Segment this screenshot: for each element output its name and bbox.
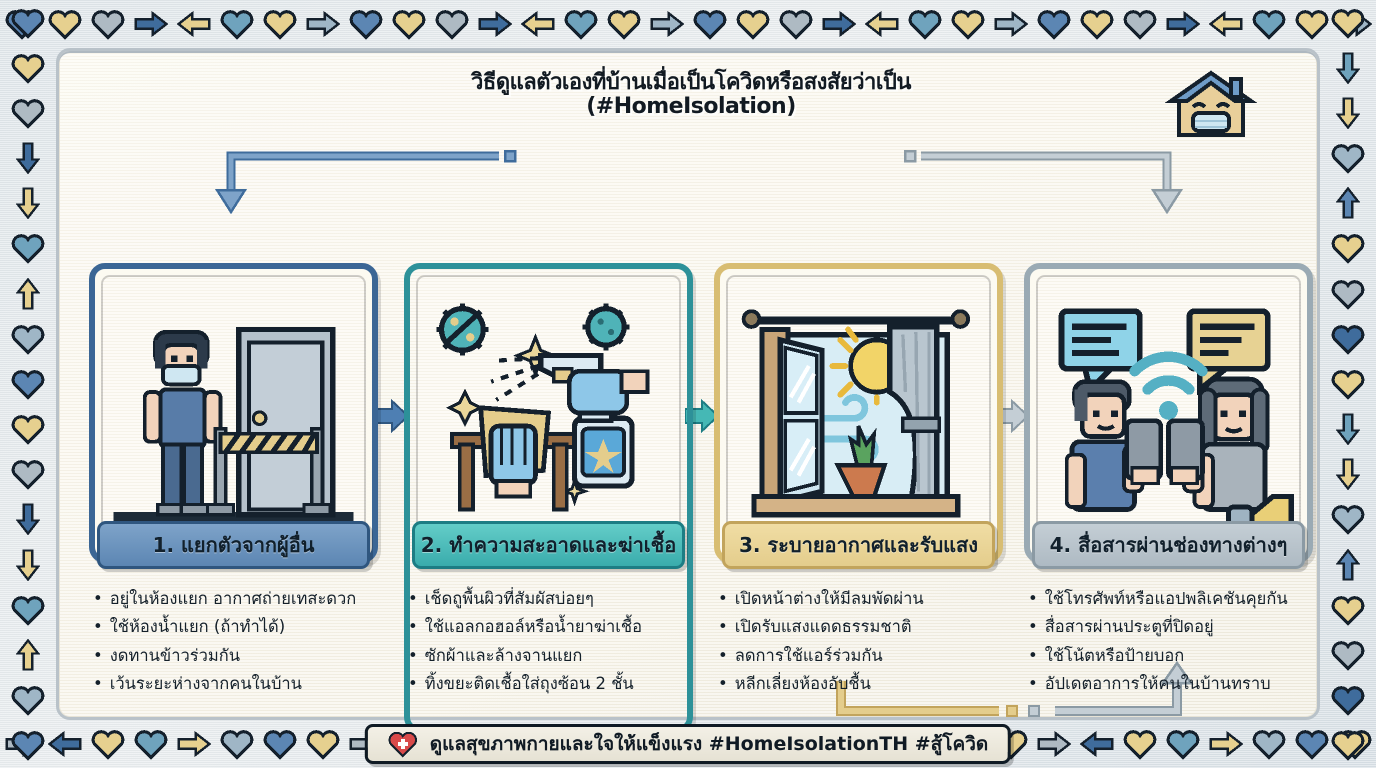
arrow-down-icon xyxy=(11,142,45,174)
card-label: 2. ทำความสะอาดและฆ่าเชื้อ xyxy=(412,521,685,569)
step-card-clean[interactable]: 2. ทำความสะอาดและฆ่าเชื้อ เช็ดถูพื้นผิวท… xyxy=(404,263,693,733)
heart-icon xyxy=(11,52,45,84)
heart-icon xyxy=(1252,8,1286,40)
two-people-phones-wifi-icon xyxy=(1038,277,1299,549)
footer-text: ดูแลสุขภาพกายและใจให้แข็งแรง #HomeIsolat… xyxy=(430,729,988,759)
arrow-right-icon xyxy=(177,728,211,760)
arrow-right-icon xyxy=(650,8,684,40)
card-frame xyxy=(1024,263,1313,563)
list-item: ใช้แอลกอฮอล์หรือน้ำยาฆ่าเชื้อ xyxy=(408,613,689,641)
card-label: 4. สื่อสารผ่านช่องทางต่างๆ xyxy=(1032,521,1305,569)
heart-icon xyxy=(11,7,45,39)
card-bullet-list: เปิดหน้าต่างให้มีลมพัดผ่าน เปิดรับแสงแดด… xyxy=(718,585,999,699)
heart-icon xyxy=(1037,8,1071,40)
heart-icon xyxy=(263,728,297,760)
step-card-communicate[interactable]: 4. สื่อสารผ่านช่องทางต่างๆ ใช้โทรศัพท์หร… xyxy=(1024,263,1313,733)
list-item: ลดการใช้แอร์ร่วมกัน xyxy=(718,642,999,670)
list-item: ใช้โทรศัพท์หรือแอปพลิเคชันคุยกัน xyxy=(1028,585,1309,613)
heart-icon xyxy=(1166,728,1200,760)
arrow-down-icon xyxy=(11,187,45,219)
heart-icon xyxy=(11,729,45,761)
list-item: อัปเดตอาการให้คนในบ้านทราบ xyxy=(1028,670,1309,698)
arrow-up-icon xyxy=(1331,549,1365,581)
arrow-down-icon xyxy=(11,503,45,535)
heart-icon xyxy=(1331,278,1365,310)
list-item: สื่อสารผ่านประตูที่ปิดอยู่ xyxy=(1028,613,1309,641)
arrow-down-icon xyxy=(1331,52,1365,84)
footer-banner: ดูแลสุขภาพกายและใจให้แข็งแรง #HomeIsolat… xyxy=(365,724,1011,764)
card-frame xyxy=(714,263,1003,563)
heart-icon xyxy=(306,728,340,760)
heart-icon xyxy=(607,8,641,40)
infographic-canvas: วิธีดูแลตัวเองที่บ้านเมื่อเป็นโควิดหรือส… xyxy=(0,0,1376,768)
list-item: ทิ้งขยะติดเชื้อใส่ถุงซ้อน 2 ชั้น xyxy=(408,670,689,698)
heart-icon xyxy=(435,8,469,40)
card-illustration-area xyxy=(101,275,366,551)
list-item: เว้นระยะห่างจากคนในบ้าน xyxy=(93,670,374,698)
arrow-right-icon xyxy=(134,8,168,40)
heart-icon xyxy=(1331,639,1365,671)
card-bullet-list: เช็ดถูพื้นผิวที่สัมผัสบ่อยๆ ใช้แอลกอฮอล์… xyxy=(408,585,689,699)
heart-icon xyxy=(11,97,45,129)
heart-icon xyxy=(1331,7,1365,39)
heart-icon xyxy=(1331,594,1365,626)
list-item: เปิดรับแสงแดดธรรมชาติ xyxy=(718,613,999,641)
arrow-left-icon xyxy=(1080,728,1114,760)
title-line-1: วิธีดูแลตัวเองที่บ้านเมื่อเป็นโควิดหรือส… xyxy=(59,71,1323,95)
border-decor-left xyxy=(0,0,56,768)
border-decor-right xyxy=(1320,0,1376,768)
arrow-right-icon xyxy=(1209,728,1243,760)
card-frame xyxy=(89,263,378,563)
heart-icon xyxy=(392,8,426,40)
list-item: ซักผ้าและล้างจานแยก xyxy=(408,642,689,670)
heart-icon xyxy=(693,8,727,40)
arrow-down-icon xyxy=(11,549,45,581)
list-item: งดทานข้าวร่วมกัน xyxy=(93,642,374,670)
heart-icon xyxy=(11,594,45,626)
list-item: ใช้ห้องน้ำแยก (ถ้าทำได้) xyxy=(93,613,374,641)
step-card-isolate[interactable]: 1. แยกตัวจากผู้อื่น อยู่ในห้องแยก อากาศถ… xyxy=(89,263,378,733)
card-label: 1. แยกตัวจากผู้อื่น xyxy=(97,521,370,569)
heart-icon xyxy=(134,728,168,760)
heart-icon xyxy=(11,458,45,490)
arrow-right-icon xyxy=(1166,8,1200,40)
card-label: 3. ระบายอากาศและรับแสง xyxy=(722,521,995,569)
arrow-up-icon xyxy=(1331,187,1365,219)
heart-icon xyxy=(1252,728,1286,760)
arrow-up-icon xyxy=(11,639,45,671)
steps-container: 1. แยกตัวจากผู้อื่น อยู่ในห้องแยก อากาศถ… xyxy=(59,211,1323,711)
heart-icon xyxy=(1331,729,1365,761)
heart-icon xyxy=(908,8,942,40)
heart-cross-icon xyxy=(388,730,418,758)
arrow-right-icon xyxy=(1037,728,1071,760)
heart-icon xyxy=(1331,142,1365,174)
heart-icon xyxy=(11,232,45,264)
arrow-up-icon xyxy=(11,278,45,310)
heart-icon xyxy=(11,323,45,355)
masked-person-closed-door-icon xyxy=(103,277,364,549)
card-bullet-list: ใช้โทรศัพท์หรือแอปพลิเคชันคุยกัน สื่อสาร… xyxy=(1028,585,1309,699)
border-decor-top xyxy=(0,0,1376,48)
heart-icon xyxy=(736,8,770,40)
heart-icon xyxy=(1080,8,1114,40)
heart-icon xyxy=(220,8,254,40)
card-illustration-area xyxy=(416,275,681,551)
heart-icon xyxy=(951,8,985,40)
arrow-down-icon xyxy=(1331,413,1365,445)
heart-icon xyxy=(779,8,813,40)
heart-icon xyxy=(1331,232,1365,264)
page-title: วิธีดูแลตัวเองที่บ้านเมื่อเป็นโควิดหรือส… xyxy=(59,71,1323,119)
list-item: อยู่ในห้องแยก อากาศถ่ายเทสะดวก xyxy=(93,585,374,613)
arrow-right-icon xyxy=(478,8,512,40)
heart-icon xyxy=(263,8,297,40)
heart-icon xyxy=(1123,728,1157,760)
list-item: หลีกเลี่ยงห้องอับชื้น xyxy=(718,670,999,698)
arrow-left-icon xyxy=(521,8,555,40)
heart-icon xyxy=(1123,8,1157,40)
heart-icon xyxy=(11,413,45,445)
arrow-right-icon xyxy=(822,8,856,40)
heart-icon xyxy=(11,368,45,400)
main-panel: วิธีดูแลตัวเองที่บ้านเมื่อเป็นโควิดหรือส… xyxy=(56,48,1320,720)
arrow-left-icon xyxy=(865,8,899,40)
arrow-down-icon xyxy=(1331,458,1365,490)
card-bullet-list: อยู่ในห้องแยก อากาศถ่ายเทสะดวก ใช้ห้องน้… xyxy=(93,585,374,699)
heart-icon xyxy=(91,8,125,40)
arrow-down-icon xyxy=(1331,97,1365,129)
heart-icon xyxy=(220,728,254,760)
heart-icon xyxy=(1331,323,1365,355)
open-window-sun-breeze-icon xyxy=(728,277,989,549)
step-card-ventilate[interactable]: 3. ระบายอากาศและรับแสง เปิดหน้าต่างให้มี… xyxy=(714,263,1003,733)
heart-icon xyxy=(1331,368,1365,400)
list-item: ใช้โน้ตหรือป้ายบอก xyxy=(1028,642,1309,670)
heart-icon xyxy=(91,728,125,760)
heart-icon xyxy=(1331,503,1365,535)
heart-icon xyxy=(564,8,598,40)
arrow-left-icon xyxy=(177,8,211,40)
heart-icon xyxy=(1331,684,1365,716)
arrow-right-icon xyxy=(306,8,340,40)
list-item: เช็ดถูพื้นผิวที่สัมผัสบ่อยๆ xyxy=(408,585,689,613)
spray-bottle-gloved-hand-icon xyxy=(418,277,679,549)
masked-house-icon xyxy=(1163,69,1259,141)
title-line-2: (#HomeIsolation) xyxy=(59,95,1323,119)
list-item: เปิดหน้าต่างให้มีลมพัดผ่าน xyxy=(718,585,999,613)
arrow-left-icon xyxy=(1209,8,1243,40)
heart-icon xyxy=(349,8,383,40)
card-illustration-area xyxy=(726,275,991,551)
heart-icon xyxy=(11,684,45,716)
card-illustration-area xyxy=(1036,275,1301,551)
arrow-right-icon xyxy=(994,8,1028,40)
